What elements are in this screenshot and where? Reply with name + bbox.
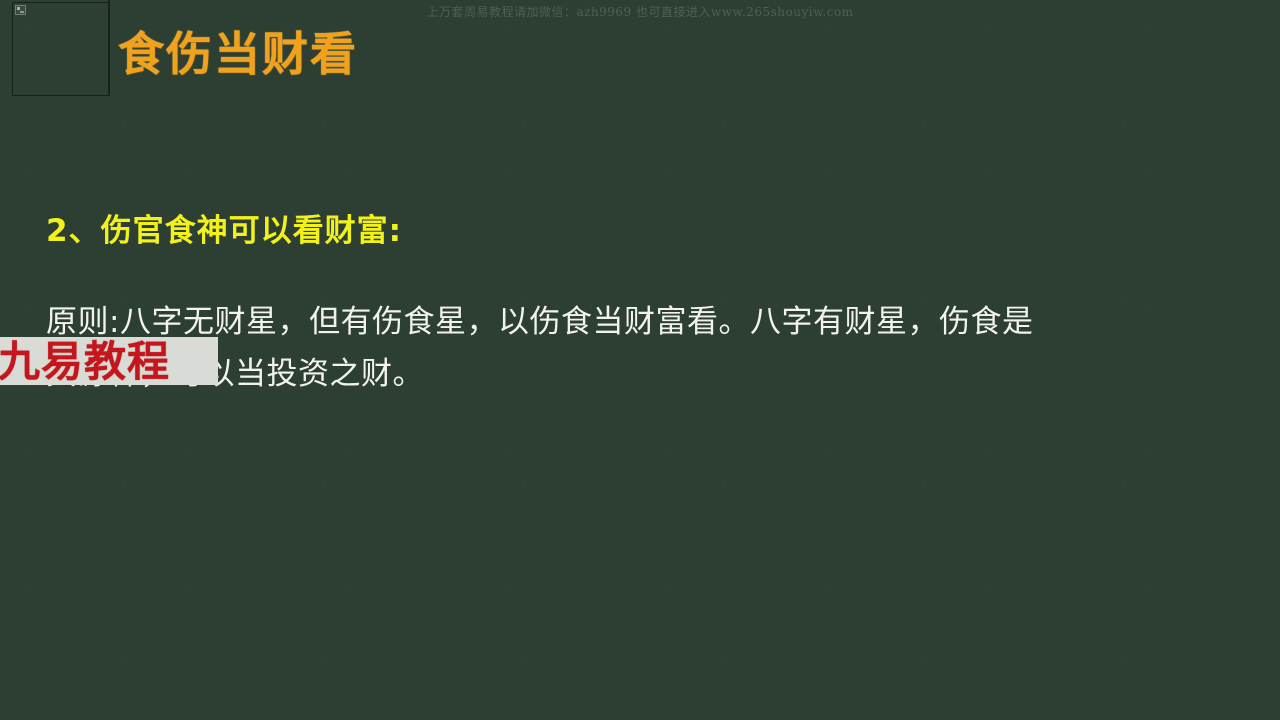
watermark-stamp: 九易教程	[0, 337, 218, 385]
body-line: 其源神，可以当投资之财。	[46, 348, 1246, 400]
watermark-text: 九易教程	[0, 339, 170, 385]
body-line: 原则:八字无财星，但有伤食星，以伤食当财富看。八字有财星，伤食是	[46, 296, 1246, 348]
slide-content: 2、伤官食神可以看财富: 原则:八字无财星，但有伤食星，以伤食当财富看。八字有财…	[46, 208, 1246, 400]
promo-banner-text: 上万套周易教程请加微信：azh9969 也可直接进入www.265shouyiw…	[426, 5, 853, 19]
body-paragraph: 原则:八字无财星，但有伤食星，以伤食当财富看。八字有财星，伤食是 其源神，可以当…	[46, 296, 1246, 400]
promo-banner: 上万套周易教程请加微信：azh9969 也可直接进入www.265shouyiw…	[0, 0, 1280, 24]
page-title: 食伤当财看	[118, 26, 358, 82]
slide-canvas: 上万套周易教程请加微信：azh9969 也可直接进入www.265shouyiw…	[0, 0, 1280, 720]
section-heading: 2、伤官食神可以看财富:	[46, 208, 1246, 254]
